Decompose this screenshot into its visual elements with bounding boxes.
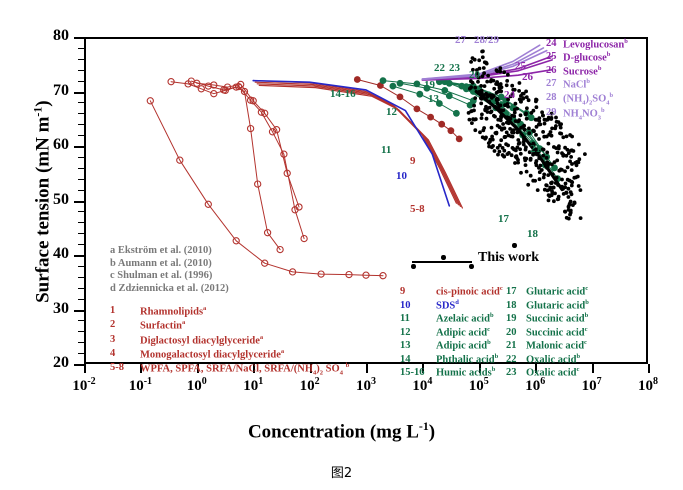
x-tick-label: 10-2: [72, 376, 95, 395]
plot-annotation: 9: [410, 155, 416, 167]
legend-surfactants-red: 1Rhamnolipidsa2Surfactina3Diglactosyl di…: [110, 305, 349, 378]
x-tick: [366, 364, 368, 373]
plot-annotation: 21: [530, 143, 541, 155]
y-minor-tick: [78, 59, 84, 60]
y-minor-tick: [78, 211, 84, 212]
legend-item-label: Oxalic acidc: [526, 366, 579, 380]
y-minor-tick: [78, 179, 84, 180]
legend-item-number: 27: [546, 78, 563, 91]
legend-item-label: WPFA, SPFA, SRFA/NaCl, SRFA/(NH4)2 SO4 b: [140, 362, 349, 378]
plot-annotation: 19: [424, 79, 435, 91]
plot-annotation: 14-16: [330, 88, 356, 100]
y-minor-tick: [78, 320, 84, 321]
y-minor-tick: [78, 124, 84, 125]
legend-item-label: Humic acidsb: [436, 366, 495, 380]
legend-item-number: 3: [110, 334, 140, 348]
legend-item: 3Diglactosyl diacylglyceridea: [110, 334, 349, 348]
plot-annotation: 13: [428, 93, 439, 105]
plot-annotation: 28/29: [474, 34, 499, 46]
legend-item: 5-8WPFA, SPFA, SRFA/NaCl, SRFA/(NH4)2 SO…: [110, 362, 349, 378]
y-minor-tick: [78, 331, 84, 332]
y-minor-tick: [78, 113, 84, 114]
legend-item-label: Succinic acidb: [526, 312, 588, 326]
this-work-dot: [469, 264, 474, 269]
y-minor-tick: [78, 135, 84, 136]
legend-item-number: 17: [506, 285, 526, 299]
y-minor-tick: [78, 266, 84, 267]
plot-annotation: 12: [386, 106, 397, 118]
y-minor-tick: [78, 157, 84, 158]
y-minor-tick: [78, 288, 84, 289]
plot-annotation: 22: [434, 62, 445, 74]
legend-item-label: Monogalactosyl diacylglyceridea: [140, 348, 284, 362]
x-tick: [648, 364, 650, 373]
legend-item-label: Adipic acidc: [436, 326, 490, 340]
plot-annotation: 23: [449, 62, 460, 74]
reference-item: a Ekström et al. (2010): [110, 245, 229, 258]
legend-item-number: 18: [506, 299, 526, 313]
legend-item-number: 13: [400, 339, 436, 353]
x-axis-title: Concentration (mg L-1): [0, 420, 683, 443]
y-tick: [74, 146, 84, 148]
plot-annotation: 20: [469, 69, 480, 81]
legend-item-number: 22: [506, 353, 526, 367]
legend-item-label: (NH4)2SO4b: [563, 92, 613, 107]
legend-item-label: Levoglucosanb: [563, 38, 628, 51]
legend-item-label: Malonic acidc: [526, 339, 587, 353]
y-tick-label: 50: [29, 192, 69, 208]
figure-surface-tension-vs-concentration: Surface tension (mN m-1) 20 30 40 50 60 …: [0, 0, 683, 490]
legend-item-number: 4: [110, 348, 140, 362]
legend-item-label: Rhamnolipidsa: [140, 305, 206, 319]
plot-annotation: 24: [504, 89, 515, 101]
y-minor-tick: [78, 342, 84, 343]
y-tick-label: 20: [29, 355, 69, 371]
legend-item: 9cis-pinoic acidc: [400, 285, 503, 299]
legend-item-number: 23: [506, 366, 526, 380]
reference-item: c Shulman et al. (1996): [110, 270, 229, 283]
plot-annotation: 5-8: [410, 203, 425, 215]
legend-item: 22Oxalic acidb: [506, 353, 589, 367]
y-minor-tick: [78, 233, 84, 234]
x-tick-label: 102: [300, 376, 320, 395]
legend-item-label: Succinic acidc: [526, 326, 588, 340]
y-tick: [74, 92, 84, 94]
reference-item: b Aumann et al. (2010): [110, 258, 229, 271]
legend-acids-right: 17Glutaric acidc18Glutaric acidb19Succin…: [506, 285, 589, 380]
legend-item-number: 24: [546, 38, 563, 51]
plot-annotation: 27: [455, 34, 466, 46]
legend-item: 23Oxalic acidc: [506, 366, 589, 380]
legend-item: 24Levoglucosanb: [546, 38, 628, 51]
y-tick: [74, 201, 84, 203]
legend-item-number: 2: [110, 319, 140, 333]
legend-item-number: 20: [506, 326, 526, 340]
plot-annotation: 11: [381, 144, 391, 156]
reference-item: d Zdziennicka et al. (2012): [110, 283, 229, 296]
legend-item-label: Sucroseb: [563, 65, 601, 78]
legend-item: 2Surfactina: [110, 319, 349, 333]
y-tick: [74, 255, 84, 257]
y-minor-tick: [78, 277, 84, 278]
y-minor-tick: [78, 353, 84, 354]
y-minor-tick: [78, 48, 84, 49]
legend-item-label: Glutaric acidc: [526, 285, 588, 299]
legend-item-number: 19: [506, 312, 526, 326]
x-tick-label: 10-1: [129, 376, 152, 395]
legend-solutes-purple: 24Levoglucosanb25D-glucoseb26Sucroseb27N…: [546, 38, 628, 122]
legend-item-label: NH4NO3b: [563, 107, 605, 122]
legend-item-label: Oxalic acidb: [526, 353, 580, 367]
reference-footnotes: a Ekström et al. (2010)b Aumann et al. (…: [110, 245, 229, 295]
figure-caption: 图2: [0, 462, 683, 481]
this-work-line: [412, 261, 472, 263]
legend-item: 12Adipic acidc: [400, 326, 503, 340]
legend-item-number: 26: [546, 65, 563, 78]
y-minor-tick: [78, 222, 84, 223]
legend-item: 1Rhamnolipidsa: [110, 305, 349, 319]
legend-item-number: 1: [110, 305, 140, 319]
y-minor-tick: [78, 102, 84, 103]
legend-item: 28(NH4)2SO4b: [546, 92, 628, 107]
legend-item: 27NaClb: [546, 78, 628, 91]
x-tick-label: 100: [187, 376, 207, 395]
legend-item-number: 15-16: [400, 366, 436, 380]
legend-item-label: Surfactina: [140, 319, 185, 333]
legend-item: 17Glutaric acidc: [506, 285, 589, 299]
y-tick-label: 30: [29, 301, 69, 317]
legend-item: 25D-glucoseb: [546, 51, 628, 64]
legend-item: 29NH4NO3b: [546, 107, 628, 122]
legend-item-label: D-glucoseb: [563, 51, 610, 64]
legend-item-label: NaClb: [563, 78, 590, 91]
y-minor-tick: [78, 70, 84, 71]
y-tick-label: 60: [29, 137, 69, 153]
x-tick-label: 103: [356, 376, 376, 395]
legend-item-number: 21: [506, 339, 526, 353]
y-minor-tick: [78, 190, 84, 191]
legend-item-label: cis-pinoic acidc: [436, 285, 503, 299]
legend-item: 19Succinic acidb: [506, 312, 589, 326]
this-work-dot: [411, 264, 416, 269]
legend-item: 14Phthalic acidb: [400, 353, 503, 367]
this-work-dot: [441, 255, 446, 260]
y-tick: [74, 364, 84, 366]
this-work-label: This work: [478, 250, 539, 266]
y-tick: [74, 37, 84, 39]
legend-item: 11Azelaic acidb: [400, 312, 503, 326]
y-tick-label: 70: [29, 83, 69, 99]
x-tick: [84, 364, 86, 373]
y-minor-tick: [78, 299, 84, 300]
legend-acids-middle: 9cis-pinoic acidc10SDSd11Azelaic acidb12…: [400, 285, 503, 380]
legend-item-label: Glutaric acidb: [526, 299, 589, 313]
legend-item-label: Azelaic acidb: [436, 312, 494, 326]
plot-annotation: 17: [498, 213, 509, 225]
plot-annotation: 10: [396, 170, 407, 182]
legend-item-label: SDSd: [436, 299, 459, 313]
legend-item: 13Adipic acidb: [400, 339, 503, 353]
legend-item-number: 5-8: [110, 362, 140, 378]
legend-item: 21Malonic acidc: [506, 339, 589, 353]
y-tick-label: 40: [29, 246, 69, 262]
legend-item-label: Diglactosyl diacylglyceridea: [140, 334, 263, 348]
legend-item-label: Adipic acidb: [436, 339, 491, 353]
legend-item-label: Phthalic acidb: [436, 353, 498, 367]
legend-item-number: 12: [400, 326, 436, 340]
legend-item-number: 25: [546, 51, 563, 64]
legend-item: 10SDSd: [400, 299, 503, 313]
y-tick-label: 80: [29, 28, 69, 44]
legend-item-number: 29: [546, 107, 563, 122]
y-minor-tick: [78, 81, 84, 82]
legend-item: 20Succinic acidc: [506, 326, 589, 340]
y-minor-tick: [78, 244, 84, 245]
x-tick-label: 101: [243, 376, 263, 395]
x-tick-label: 108: [638, 376, 658, 395]
legend-item-number: 9: [400, 285, 436, 299]
legend-item: 26Sucroseb: [546, 65, 628, 78]
legend-item: 18Glutaric acidb: [506, 299, 589, 313]
this-work-dot: [512, 243, 517, 248]
legend-item-number: 11: [400, 312, 436, 326]
legend-item-number: 28: [546, 92, 563, 107]
legend-item: 15-16Humic acidsb: [400, 366, 503, 380]
legend-item-number: 10: [400, 299, 436, 313]
y-minor-tick: [78, 168, 84, 169]
legend-item-number: 14: [400, 353, 436, 367]
x-tick: [592, 364, 594, 373]
plot-annotation: 26: [522, 71, 533, 83]
y-tick: [74, 310, 84, 312]
legend-item: 4Monogalactosyl diacylglyceridea: [110, 348, 349, 362]
plot-annotation: 18: [527, 228, 538, 240]
